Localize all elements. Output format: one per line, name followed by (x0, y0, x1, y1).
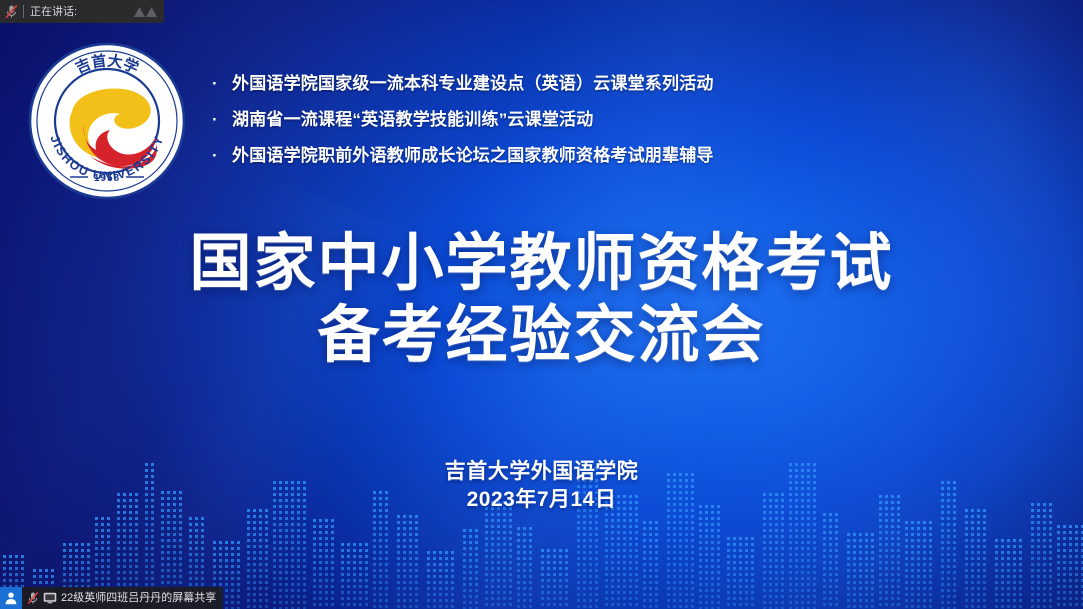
share-info-group[interactable]: 22级英师四班吕丹丹的屏幕共享 (22, 587, 223, 609)
participant-avatar-icon (0, 587, 22, 609)
mic-muted-icon[interactable] (27, 591, 39, 605)
share-label: 22级英师四班吕丹丹的屏幕共享 (61, 591, 216, 605)
double-chevron-icon[interactable] (133, 5, 164, 19)
title-line-1: 国家中小学教师资格考试 (0, 228, 1083, 300)
bullet-marker: · (206, 72, 232, 96)
slide-footer: 吉首大学外国语学院 2023年7月14日 (0, 458, 1083, 514)
bullet-text: 外国语学院职前外语教师成长论坛之国家教师资格考试朋辈辅导 (232, 144, 714, 168)
emblem-year: 1958 (94, 173, 120, 184)
footer-organization: 吉首大学外国语学院 (0, 458, 1083, 486)
footer-date: 2023年7月14日 (0, 486, 1083, 514)
list-item: · 外国语学院职前外语教师成长论坛之国家教师资格考试朋辈辅导 (206, 144, 906, 168)
speaking-label: 正在讲话: (30, 5, 77, 19)
divider (23, 5, 24, 18)
mic-muted-icon[interactable] (0, 4, 22, 19)
page-title: 国家中小学教师资格考试 备考经验交流会 (0, 228, 1083, 372)
bullet-list: · 外国语学院国家级一流本科专业建设点（英语）云课堂系列活动 · 湖南省一流课程… (206, 72, 906, 180)
jishou-university-emblem-svg: 吉首大学 JISHOU UNIVERSITY 1958 (26, 40, 188, 202)
title-line-2: 备考经验交流会 (0, 300, 1083, 372)
list-item: · 湖南省一流课程“英语教学技能训练”云课堂活动 (206, 108, 906, 132)
university-logo: 吉首大学 JISHOU UNIVERSITY 1958 (26, 40, 188, 202)
screen-share-status-bar[interactable]: 22级英师四班吕丹丹的屏幕共享 (0, 587, 223, 609)
bullet-marker: · (206, 108, 232, 132)
bullet-text: 外国语学院国家级一流本科专业建设点（英语）云课堂系列活动 (232, 72, 714, 96)
bullet-text: 湖南省一流课程“英语教学技能训练”云课堂活动 (232, 108, 593, 132)
screen-share-icon[interactable] (43, 592, 57, 604)
active-speaker-bar[interactable]: 正在讲话: (0, 0, 164, 23)
list-item: · 外国语学院国家级一流本科专业建设点（英语）云课堂系列活动 (206, 72, 906, 96)
bullet-marker: · (206, 144, 232, 168)
screen-share-slide: 吉首大学 JISHOU UNIVERSITY 1958 · 外国语学院国家级一流… (0, 0, 1083, 609)
